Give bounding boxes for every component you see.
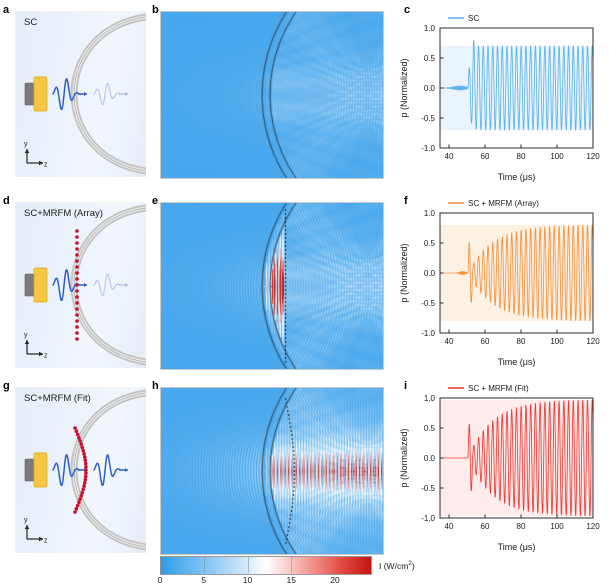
panel-label-g: g [3, 381, 10, 392]
plot-ylabel: p (Normalized) [399, 428, 409, 487]
schematic-drawing: yz [15, 11, 146, 177]
plot-xtick-label: 80 [517, 522, 526, 531]
plot-fit: 406080100120-1.0-0.50.00.51.0Time (μs)p … [396, 376, 601, 558]
plot-xlabel: Time (μs) [498, 357, 536, 367]
colorbar-tick-label: 20 [321, 575, 349, 585]
emitter-element [34, 268, 47, 302]
plot-xtick-label: 120 [586, 337, 600, 346]
plot-ytick-label: 0.0 [424, 84, 436, 93]
plot-xtick-label: 100 [550, 522, 564, 531]
plot-xtick-label: 60 [481, 337, 490, 346]
plot-xtick-label: 100 [550, 152, 564, 161]
panel-label-d: d [3, 196, 10, 207]
axis-label-y: y [24, 332, 28, 339]
wave-packet [94, 455, 120, 486]
colorbar-title-base: I (W/cm [379, 561, 408, 571]
axis-indicator: yz [24, 141, 48, 169]
panel-label-e: e [152, 196, 158, 207]
emitter-backing [25, 459, 34, 481]
colorbar-tick [248, 556, 249, 573]
wave-arrow-head [84, 283, 87, 287]
field-map-array [160, 202, 384, 370]
plot-xtick-label: 40 [445, 522, 454, 531]
panel-label-a: a [3, 5, 9, 16]
panel-label-h: h [152, 381, 159, 392]
wave-arrow-head [125, 92, 128, 96]
colorbar-tick [291, 556, 292, 573]
plot-xtick-label: 80 [517, 152, 526, 161]
wave-packet [94, 83, 120, 105]
schematic-sc: SC yz [15, 11, 146, 177]
colorbar: 05101520 I (W/cm2) [160, 556, 460, 585]
colorbar-title: I (W/cm2) [379, 560, 415, 571]
mrfm-array-dots [75, 229, 79, 341]
colorbar-tick-label: 10 [234, 575, 262, 585]
schematic-sc-mrfm-fit: SC+MRFM (Fit) yz [15, 387, 146, 553]
wave-arrow-head [125, 468, 128, 472]
wave-arrow-head [84, 92, 87, 96]
colorbar-title-tail: ) [412, 561, 415, 571]
plot-ytick-label: 0.5 [424, 424, 436, 433]
emitter-backing [25, 83, 34, 105]
emitter-element [34, 77, 47, 111]
axis-indicator: yz [24, 332, 48, 360]
plot-ytick-label: 0.5 [424, 54, 436, 63]
plot-ytick-label: 0.5 [424, 239, 436, 248]
legend-label: SC + MRFM (Array) [468, 199, 539, 208]
schematic-sc-mrfm-array: SC+MRFM (Array) yz [15, 202, 146, 368]
plot-xtick-label: 60 [481, 522, 490, 531]
plot-legend: SC [448, 14, 479, 23]
plot-svg: 406080100120-1.0-0.50.00.51.0Time (μs)p … [396, 191, 601, 373]
plot-xlabel: Time (μs) [498, 542, 536, 552]
schematic-drawing: yz [15, 387, 146, 553]
plot-ytick-label: 0.0 [424, 454, 436, 463]
plot-ylabel: p (Normalized) [399, 58, 409, 117]
plot-xtick-label: 40 [445, 337, 454, 346]
plot-ytick-label: 1.0 [424, 24, 436, 33]
colorbar-tick [204, 556, 205, 573]
axis-indicator: yz [24, 517, 48, 545]
colorbar-tick-label: 5 [190, 575, 218, 585]
plot-ytick-label: -1.0 [421, 329, 435, 338]
plot-array: 406080100120-1.0-0.50.00.51.0Time (μs)p … [396, 191, 601, 373]
plot-xtick-label: 120 [586, 522, 600, 531]
plot-ytick-label: -1.0 [421, 144, 435, 153]
plot-ytick-label: -0.5 [421, 299, 435, 308]
plot-ytick-label: 1.0 [424, 394, 436, 403]
plot-ytick-label: -0.5 [421, 484, 435, 493]
field-canvas-e [161, 203, 383, 369]
plot-ylabel: p (Normalized) [399, 243, 409, 302]
plot-xlabel: Time (μs) [498, 172, 536, 182]
field-map-fit [160, 387, 384, 555]
axis-label-z: z [44, 162, 48, 169]
plot-xtick-label: 40 [445, 152, 454, 161]
figure-root: a b c d e f g h i SC yz SC+MRFM (Array) … [0, 0, 609, 585]
colorbar-gradient [160, 556, 372, 575]
wave-arrow-head [125, 283, 128, 287]
schematic-drawing: yz [15, 202, 146, 368]
colorbar-tick-label: 15 [277, 575, 305, 585]
emitter-element [34, 453, 47, 487]
plot-legend: SC + MRFM (Fit) [448, 384, 529, 393]
legend-label: SC [468, 14, 479, 23]
plot-xtick-label: 80 [517, 337, 526, 346]
plot-svg: 406080100120-1.0-0.50.00.51.0Time (μs)p … [396, 376, 601, 558]
axis-label-z: z [44, 538, 48, 545]
field-map-sc [160, 11, 384, 179]
wave-packet [94, 274, 120, 296]
plot-ytick-label: 1.0 [424, 209, 436, 218]
plot-sc: 406080100120-1.0-0.50.00.51.0Time (μs)p … [396, 6, 601, 188]
plot-xtick-label: 100 [550, 337, 564, 346]
field-canvas-h [161, 388, 383, 554]
plot-xtick-label: 60 [481, 152, 490, 161]
colorbar-tick [160, 556, 161, 573]
axis-label-z: z [44, 353, 48, 360]
axis-label-y: y [24, 517, 28, 524]
field-canvas-b [161, 12, 383, 178]
plot-ytick-label: -1.0 [421, 514, 435, 523]
plot-xtick-label: 120 [586, 152, 600, 161]
plot-ytick-label: -0.5 [421, 114, 435, 123]
legend-label: SC + MRFM (Fit) [468, 384, 529, 393]
colorbar-tick-label: 0 [146, 575, 174, 585]
emitter-backing [25, 274, 34, 296]
plot-ytick-label: 0.0 [424, 269, 436, 278]
axis-label-y: y [24, 141, 28, 148]
colorbar-tick [335, 556, 336, 573]
plot-svg: 406080100120-1.0-0.50.00.51.0Time (μs)p … [396, 6, 601, 188]
panel-label-b: b [152, 5, 159, 16]
plot-legend: SC + MRFM (Array) [448, 199, 539, 208]
